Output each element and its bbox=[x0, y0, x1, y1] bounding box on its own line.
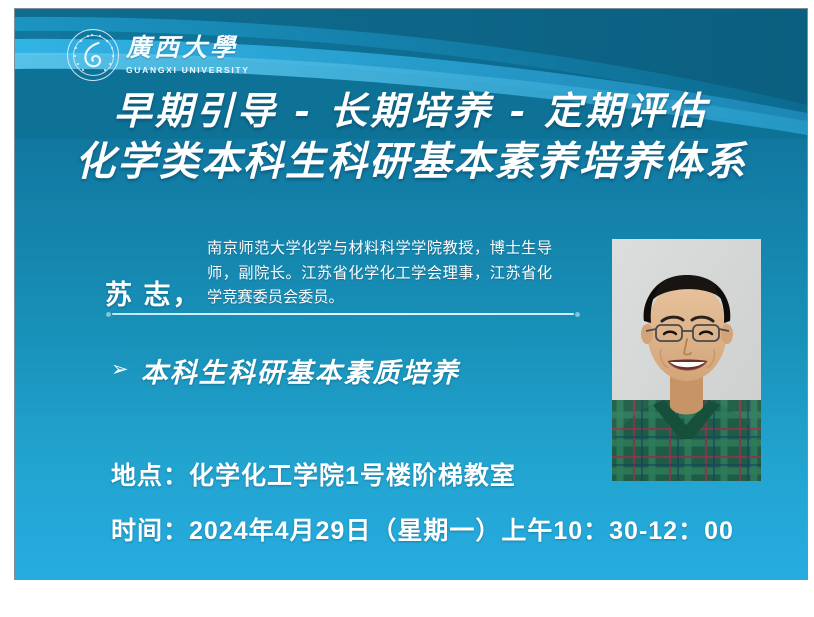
bullet-text: 本科生科研基本素质培养 bbox=[141, 351, 460, 390]
section-divider bbox=[106, 310, 580, 319]
event-time: 时间：2024年4月29日（星期一）上午10：30-12：00 bbox=[111, 519, 734, 544]
topic-bullet-item: ➢ 本科生科研基本素质培养 bbox=[111, 351, 460, 390]
speaker-photo bbox=[612, 239, 761, 481]
bullet-arrow-icon: ➢ bbox=[111, 359, 129, 380]
title-line-1: 早期引导 - 长期培养 - 定期评估 bbox=[15, 87, 807, 136]
speaker-name: 苏 志， bbox=[105, 273, 202, 312]
event-venue: 地点：化学化工学院1号楼阶梯教室 bbox=[111, 464, 734, 489]
divider-cap-right bbox=[575, 312, 580, 317]
title-line-2: 化学类本科生科研基本素养培养体系 bbox=[15, 136, 807, 188]
guangxi-university-seal-icon bbox=[67, 29, 119, 81]
speaker-bio: 南京师范大学化学与材料科学学院教授，博士生导师，副院长。江苏省化学化工学会理事，… bbox=[207, 237, 552, 311]
logo-name-cn: 廣西大學 bbox=[126, 35, 250, 61]
presentation-viewport: 廣西大學 GUANGXI UNIVERSITY 早期引导 - 长期培养 - 定期… bbox=[0, 0, 814, 617]
divider-bar bbox=[112, 313, 574, 315]
divider-cap-left bbox=[106, 312, 111, 317]
logo-wordmark: 廣西大學 GUANGXI UNIVERSITY bbox=[126, 35, 250, 74]
university-logo: 廣西大學 GUANGXI UNIVERSITY bbox=[67, 25, 250, 85]
lecture-poster-slide: 廣西大學 GUANGXI UNIVERSITY 早期引导 - 长期培养 - 定期… bbox=[14, 8, 808, 580]
logo-name-en: GUANGXI UNIVERSITY bbox=[126, 65, 250, 75]
poster-title: 早期引导 - 长期培养 - 定期评估 化学类本科生科研基本素养培养体系 bbox=[15, 87, 807, 188]
event-details: 地点：化学化工学院1号楼阶梯教室 时间：2024年4月29日（星期一）上午10：… bbox=[111, 464, 734, 544]
